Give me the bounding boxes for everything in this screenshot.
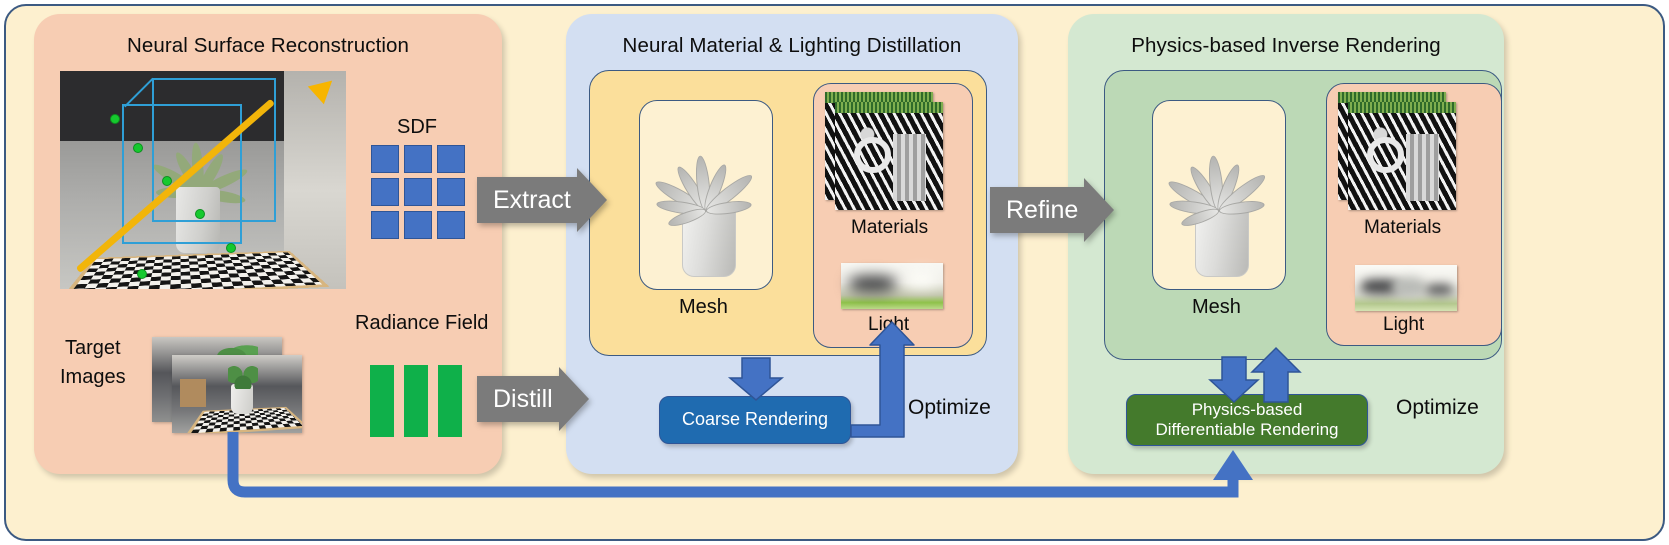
material-texture-front [835, 102, 943, 210]
target-image-front [172, 355, 302, 433]
light-envmap-inverse [1355, 265, 1457, 311]
pbdr-label-line2: Differentiable Rendering [1155, 420, 1338, 439]
stage-title-distillation: Neural Material & Lighting Distillation [566, 34, 1018, 58]
pbdr-label-line1: Physics-based [1192, 400, 1303, 419]
mesh-card-inverse [1152, 100, 1286, 290]
target-images-label-line1: Target [65, 337, 121, 360]
stage-title-inverse-rendering: Physics-based Inverse Rendering [1068, 34, 1504, 58]
extract-arrow: Extract [477, 168, 607, 232]
radiance-field-bars-icon [370, 365, 462, 437]
sdf-grid-icon [371, 145, 465, 239]
refine-arrow-label: Refine [1006, 196, 1078, 225]
mesh-label-distillation: Mesh [679, 296, 728, 319]
materials-label-distillation: Materials [851, 217, 928, 239]
capture-photo [60, 71, 346, 289]
distill-arrow-label: Distill [493, 385, 553, 414]
optimize-label-distillation: Optimize [908, 396, 991, 420]
light-label-distillation: Light [868, 314, 909, 336]
physics-based-differentiable-rendering-box[interactable]: Physics-based Differentiable Rendering [1126, 394, 1368, 446]
extract-arrow-label: Extract [493, 186, 571, 215]
materials-label-inverse: Materials [1364, 217, 1441, 239]
distill-arrow: Distill [477, 367, 589, 431]
coarse-rendering-label: Coarse Rendering [682, 409, 828, 430]
light-label-inverse: Light [1383, 314, 1424, 336]
stage-title-reconstruction: Neural Surface Reconstruction [34, 34, 502, 58]
radiance-field-label: Radiance Field [355, 312, 488, 335]
target-images-label-line2: Images [60, 366, 126, 389]
optimize-label-inverse: Optimize [1396, 396, 1479, 420]
light-envmap-distillation [841, 263, 943, 309]
coarse-rendering-box[interactable]: Coarse Rendering [659, 396, 851, 444]
mesh-card-distillation [639, 100, 773, 290]
mesh-label-inverse: Mesh [1192, 296, 1241, 319]
material-texture-front-inverse [1348, 102, 1456, 210]
diagram-root: Neural Surface Reconstruction Target Ima… [0, 0, 1669, 545]
sdf-label: SDF [397, 116, 437, 139]
refine-arrow: Refine [990, 178, 1114, 242]
